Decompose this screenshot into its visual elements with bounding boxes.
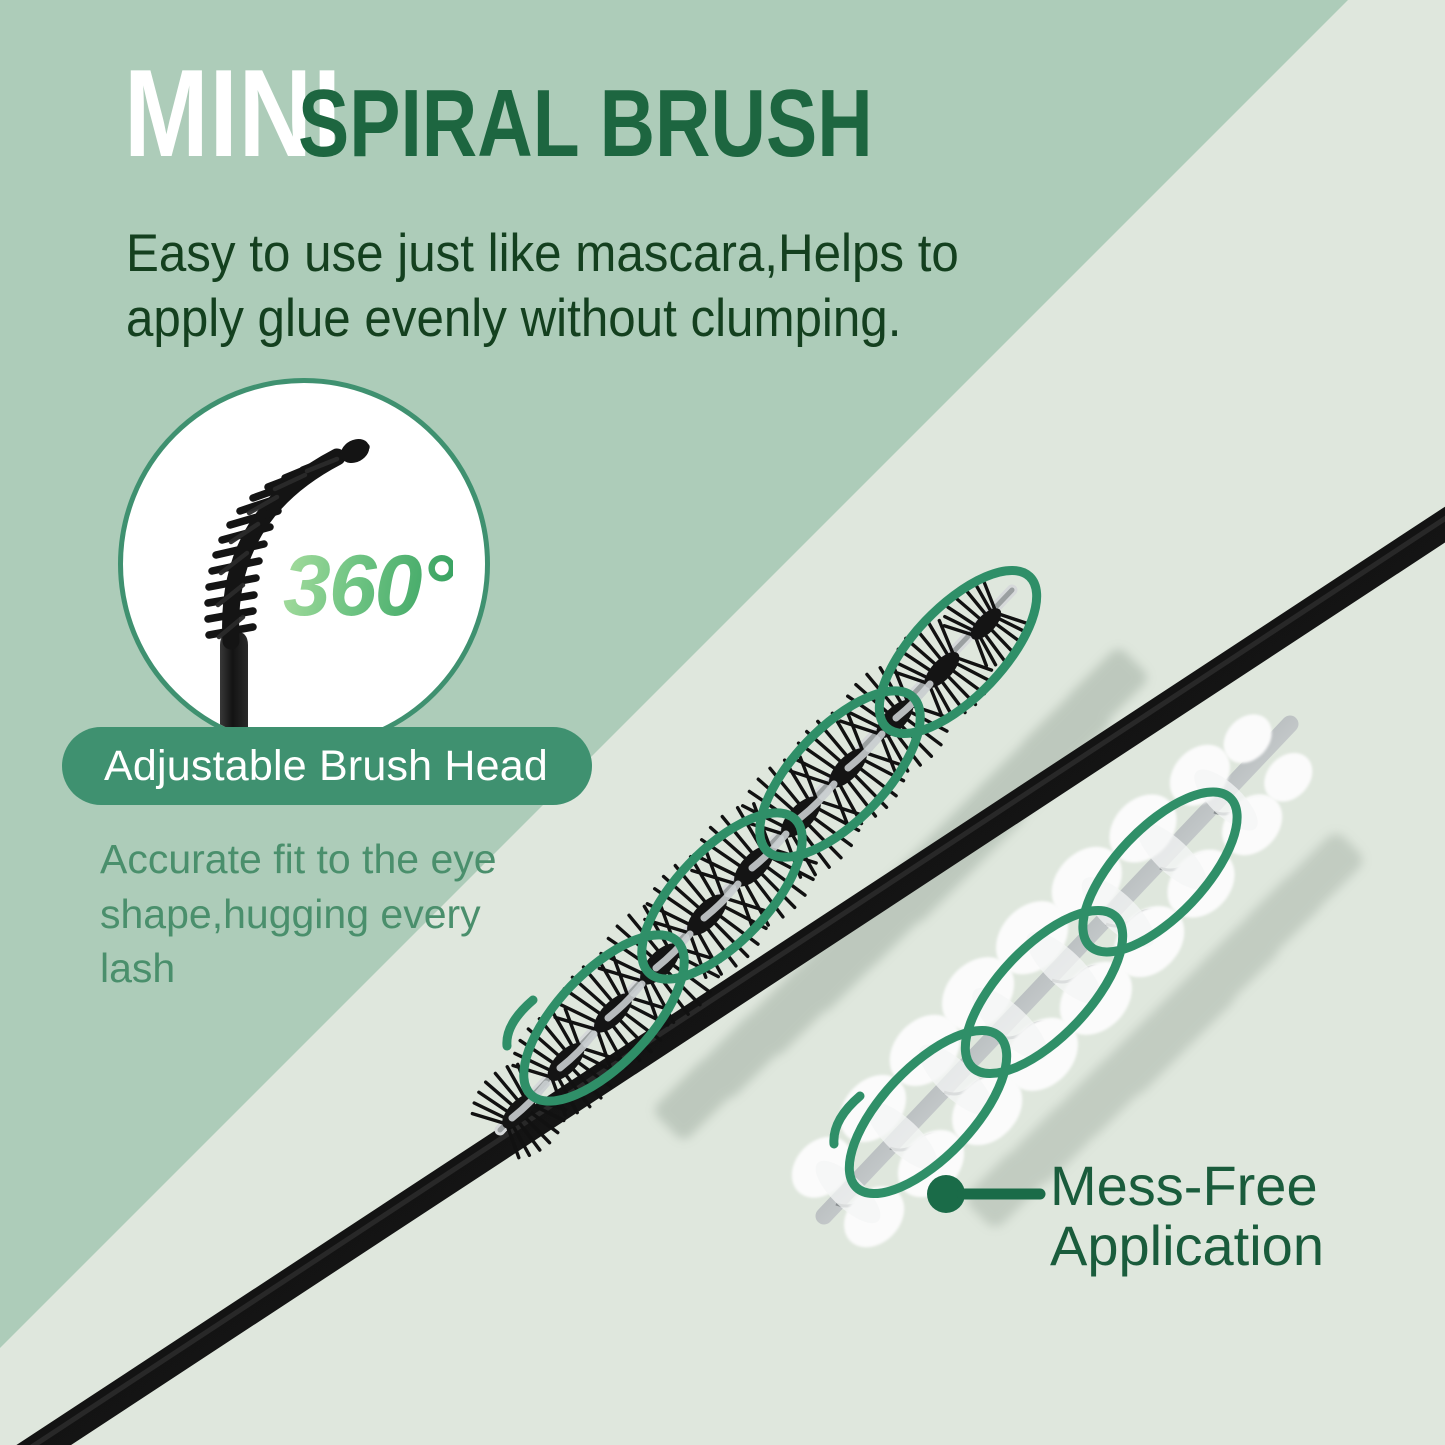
leader-line-dot-icon: [924, 1172, 1054, 1232]
adjustable-brush-head-pill: Adjustable Brush Head: [62, 727, 592, 805]
subtitle-text: Easy to use just like mascara,Helps to a…: [126, 222, 1047, 351]
product-feature-poster: MINI SPIRAL BRUSH Easy to use just like …: [0, 0, 1445, 1445]
mess-free-callout: Mess-Free Application: [924, 1172, 1374, 1312]
degree-label: 360°: [283, 543, 453, 629]
page-title: MINI SPIRAL BRUSH: [124, 52, 1016, 176]
title-word-spiral-brush: SPIRAL BRUSH: [298, 76, 873, 172]
mess-free-label: Mess-Free Application: [1050, 1156, 1324, 1277]
feature-description-text: Accurate fit to the eye shape,hugging ev…: [100, 832, 520, 996]
brush-head-badge: 360°: [118, 378, 490, 750]
